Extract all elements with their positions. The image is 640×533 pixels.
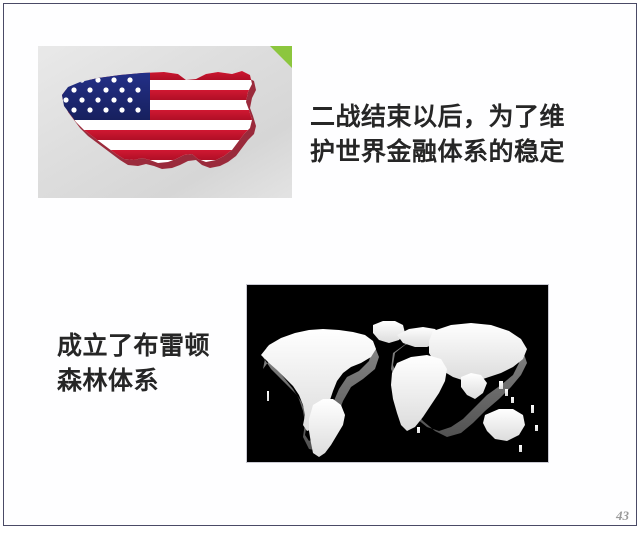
us-map-graphic xyxy=(46,62,286,184)
intro-text: 二战结束以后，为了维 护世界金融体系的稳定 xyxy=(310,99,600,169)
page-number: 43 xyxy=(605,508,629,524)
presentation-slide: 二战结束以后，为了维 护世界金融体系的稳定 成立了布雷顿 森林体系 xyxy=(0,0,640,533)
world-map-image xyxy=(247,285,548,462)
result-text: 成立了布雷顿 森林体系 xyxy=(57,328,257,398)
us-flag-map-image xyxy=(38,46,292,198)
